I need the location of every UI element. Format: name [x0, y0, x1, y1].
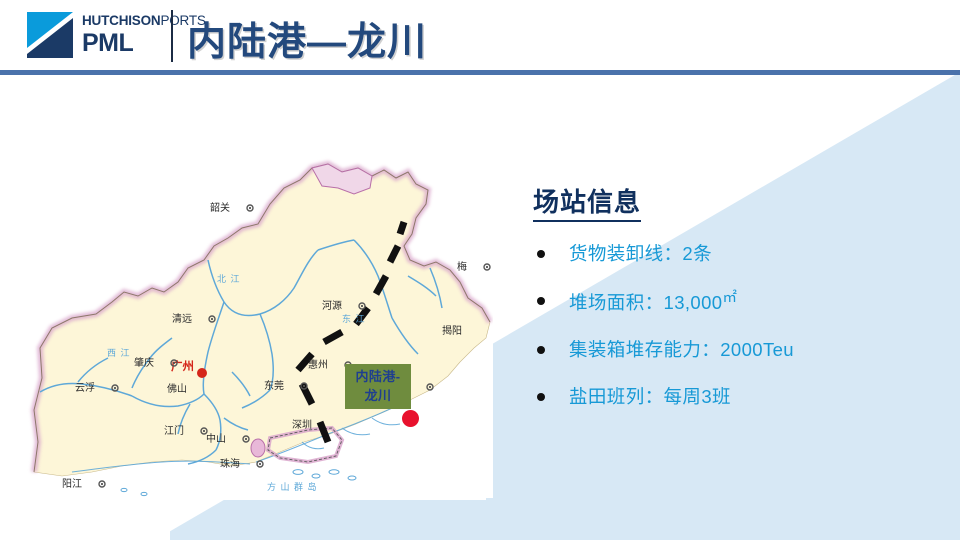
city-dot-icon: [101, 483, 103, 485]
city-label: 深圳: [292, 419, 312, 431]
page-title: 内陆港—龙川: [187, 11, 427, 67]
capital-marker-icon: [197, 368, 207, 378]
station-info-item-label: 堆场面积：: [569, 292, 664, 313]
inland-port-callout[interactable]: 内陆港- 龙川: [345, 364, 411, 409]
callout-line-one: 内陆港-: [356, 368, 401, 387]
city-dot-icon: [429, 386, 431, 388]
city-label: 云浮: [75, 382, 95, 394]
city-dot-icon: [245, 438, 247, 440]
bullet-icon: [537, 393, 545, 401]
city-label: 韶关: [210, 201, 230, 214]
city-dot-icon: [303, 385, 305, 387]
inland-port-location-marker-icon[interactable]: [402, 410, 419, 427]
station-info-panel: 场站信息 货物装卸线：2条堆场面积：13,000㎡集装箱堆存能力：2000Teu…: [533, 186, 933, 433]
station-info-item-label: 货物装卸线：: [569, 243, 682, 264]
station-info-item-unit: ㎡: [723, 290, 738, 306]
station-info-item: 集装箱堆存能力：2000Teu: [533, 339, 933, 361]
city-dot-icon: [486, 266, 488, 268]
city-label: 阳江: [62, 478, 82, 490]
station-info-item-label: 集装箱堆存能力：: [569, 339, 720, 360]
hutchison-ports-logo-icon: [27, 12, 73, 58]
station-info-item-label: 盐田班列：: [569, 386, 664, 407]
city-label: 东莞: [264, 379, 284, 392]
station-info-item: 盐田班列：每周3班: [533, 386, 933, 408]
station-info-item-value: 每周3班: [664, 386, 731, 407]
callout-line-two: 龙川: [365, 387, 392, 406]
city-label: 中山: [206, 432, 226, 445]
station-info-heading: 场站信息: [533, 186, 641, 222]
guangdong-map: 韶关清远广州佛山肇庆云浮江门中山珠海阳江东莞惠州河源梅揭阳汕尾深圳 西 江北 江…: [12, 142, 493, 498]
city-dot-icon: [259, 463, 261, 465]
water-label: 方 山 群 岛: [267, 481, 318, 492]
city-dot-icon: [361, 305, 363, 307]
city-label: 惠州: [308, 358, 328, 371]
water-label: 东 江: [342, 313, 366, 324]
slide-root: HUTCHISONPORTS PML 内陆港—龙川: [0, 0, 960, 540]
city-label: 梅: [457, 260, 467, 273]
city-label: 清远: [172, 312, 192, 325]
city-label: 河源: [322, 299, 342, 312]
header-rule: [0, 70, 960, 75]
station-info-item: 堆场面积：13,000㎡: [533, 290, 933, 314]
station-info-item-value: 2条: [682, 243, 712, 264]
city-dot-icon: [249, 207, 251, 209]
city-label: 珠海: [220, 457, 240, 470]
city-dot-icon: [114, 387, 116, 389]
bullet-icon: [537, 297, 545, 305]
header-divider: [171, 10, 173, 62]
brand-hutchison: HUTCHISON: [82, 13, 160, 28]
city-label: 肇庆: [134, 356, 154, 369]
header-bar: HUTCHISONPORTS PML 内陆港—龙川: [0, 0, 960, 71]
station-info-item: 货物装卸线：2条: [533, 243, 933, 265]
bullet-icon: [537, 346, 545, 354]
city-label: 佛山: [167, 382, 187, 395]
brand-logo: HUTCHISONPORTS PML: [27, 12, 206, 58]
station-info-item-value: 2000Teu: [720, 339, 794, 360]
water-label: 西 江: [107, 348, 131, 358]
station-info-item-value: 13,000: [664, 292, 723, 313]
station-info-list: 货物装卸线：2条堆场面积：13,000㎡集装箱堆存能力：2000Teu盐田班列：…: [533, 243, 933, 409]
city-label: 揭阳: [442, 324, 462, 337]
city-dot-icon: [211, 318, 213, 320]
map-panel[interactable]: 韶关清远广州佛山肇庆云浮江门中山珠海阳江东莞惠州河源梅揭阳汕尾深圳 西 江北 江…: [12, 142, 493, 498]
city-label: 江门: [164, 424, 184, 437]
city-dot-icon: [173, 362, 175, 364]
water-label: 北 江: [217, 274, 241, 284]
city-dot-icon: [203, 430, 205, 432]
bullet-icon: [537, 250, 545, 258]
